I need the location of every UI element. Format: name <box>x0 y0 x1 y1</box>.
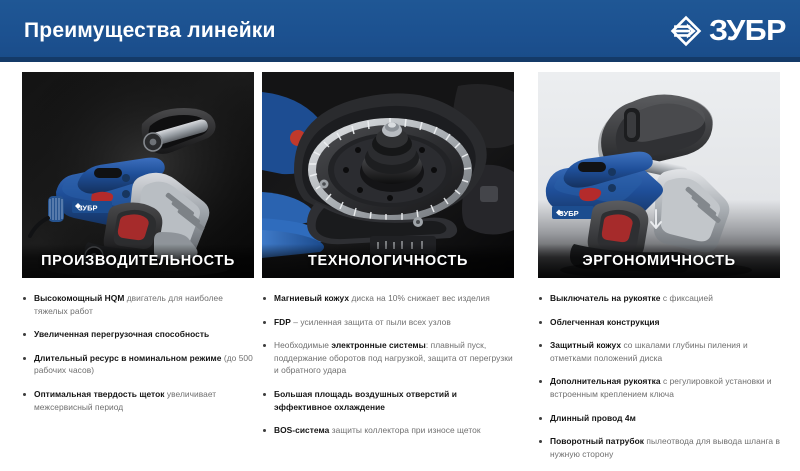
brand-logo: ЗУБР <box>669 13 782 49</box>
bullet-item: Поворотный патрубок пылеотвода для вывод… <box>538 435 780 460</box>
bullet-item: Длительный ресурс в номинальном режиме (… <box>22 352 254 377</box>
bullet-strong: Поворотный патрубок <box>550 436 644 446</box>
bullet-item: Защитный кожух со шкалами глубины пилени… <box>538 339 780 364</box>
bullet-strong: Высокомощный HQM <box>34 293 124 303</box>
bullet-item: Высокомощный HQM двигатель для наиболее … <box>22 292 254 317</box>
svg-text:ЗУБР: ЗУБР <box>559 209 579 218</box>
columns-container: ЗУБР <box>0 72 800 442</box>
bullet-list-technology: Магниевый кожух диска на 10% снижает вес… <box>262 292 514 437</box>
feature-column-performance: ЗУБР <box>22 72 254 424</box>
brand-wordmark: ЗУБР <box>709 14 786 48</box>
caption-performance: ПРОИЗВОДИТЕЛЬНОСТЬ <box>22 244 254 278</box>
slide-root: Преимущества линейки ЗУБР <box>0 0 800 450</box>
bullet-strong: Защитный кожух <box>550 340 621 350</box>
zubr-diamond-arrow-icon <box>669 14 703 48</box>
bullet-strong: Большая площадь воздушных отверстий и эф… <box>274 389 457 412</box>
feature-column-ergonomics: ЗУБР ЭРГОНОМИЧНОСТЬ Выключатель на рукоя… <box>538 72 780 471</box>
bullet-item: Выключатель на рукоятке с фиксацией <box>538 292 780 305</box>
bullet-strong: FDP <box>274 317 291 327</box>
photo-technology: ТЕХНОЛОГИЧНОСТЬ <box>262 72 514 278</box>
header-bar: Преимущества линейки ЗУБР <box>0 0 800 62</box>
caption-technology: ТЕХНОЛОГИЧНОСТЬ <box>262 244 514 278</box>
page-title: Преимущества линейки <box>24 18 276 44</box>
bullet-pre: Необходимые <box>274 340 331 350</box>
bullet-rest: – усиленная защита от пыли всех узлов <box>291 317 451 327</box>
bullet-list-performance: Высокомощный HQM двигатель для наиболее … <box>22 292 254 413</box>
bullet-item: Оптимальная твердость щеток увеличивает … <box>22 388 254 413</box>
bullet-strong: Выключатель на рукоятке <box>550 293 661 303</box>
bullet-item: Необходимые электронные системы: плавный… <box>262 339 514 377</box>
caption-ergonomics: ЭРГОНОМИЧНОСТЬ <box>538 244 780 278</box>
bullet-strong: Длительный ресурс в номинальном режиме <box>34 353 221 363</box>
bullet-item: Облегченная конструкция <box>538 316 780 329</box>
bullet-rest: защиты коллектора при износе щеток <box>329 425 480 435</box>
bullet-item: Большая площадь воздушных отверстий и эф… <box>262 388 514 413</box>
feature-column-technology: ТЕХНОЛОГИЧНОСТЬ Магниевый кожух диска на… <box>262 72 514 448</box>
photo-ergonomics: ЗУБР ЭРГОНОМИЧНОСТЬ <box>538 72 780 278</box>
bullet-strong: BOS-система <box>274 425 329 435</box>
bullet-item: Магниевый кожух диска на 10% снижает вес… <box>262 292 514 305</box>
bullet-strong: Дополнительная рукоятка <box>550 376 661 386</box>
bullet-rest: с фиксацией <box>661 293 713 303</box>
bullet-item: Дополнительная рукоятка с регулировкой у… <box>538 375 780 400</box>
bullet-item: Длинный провод 4м <box>538 412 780 425</box>
bullet-item: BOS-система защиты коллектора при износе… <box>262 424 514 437</box>
bullet-rest: диска на 10% снижает вес изделия <box>349 293 490 303</box>
svg-text:ЗУБР: ЗУБР <box>78 203 97 212</box>
bullet-strong: Оптимальная твердость щеток <box>34 389 165 399</box>
bullet-item: Увеличенная перегрузочная способность <box>22 328 254 341</box>
bullet-strong: Облегченная конструкция <box>550 317 660 327</box>
bullet-strong: Магниевый кожух <box>274 293 349 303</box>
bullet-strong: электронные системы <box>331 340 425 350</box>
bullet-strong: Длинный провод 4м <box>550 413 636 423</box>
bullet-strong: Увеличенная перегрузочная способность <box>34 329 209 339</box>
bullet-item: FDP – усиленная защита от пыли всех узло… <box>262 316 514 329</box>
photo-performance: ЗУБР <box>22 72 254 278</box>
bullet-list-ergonomics: Выключатель на рукоятке с фиксацией Обле… <box>538 292 780 460</box>
